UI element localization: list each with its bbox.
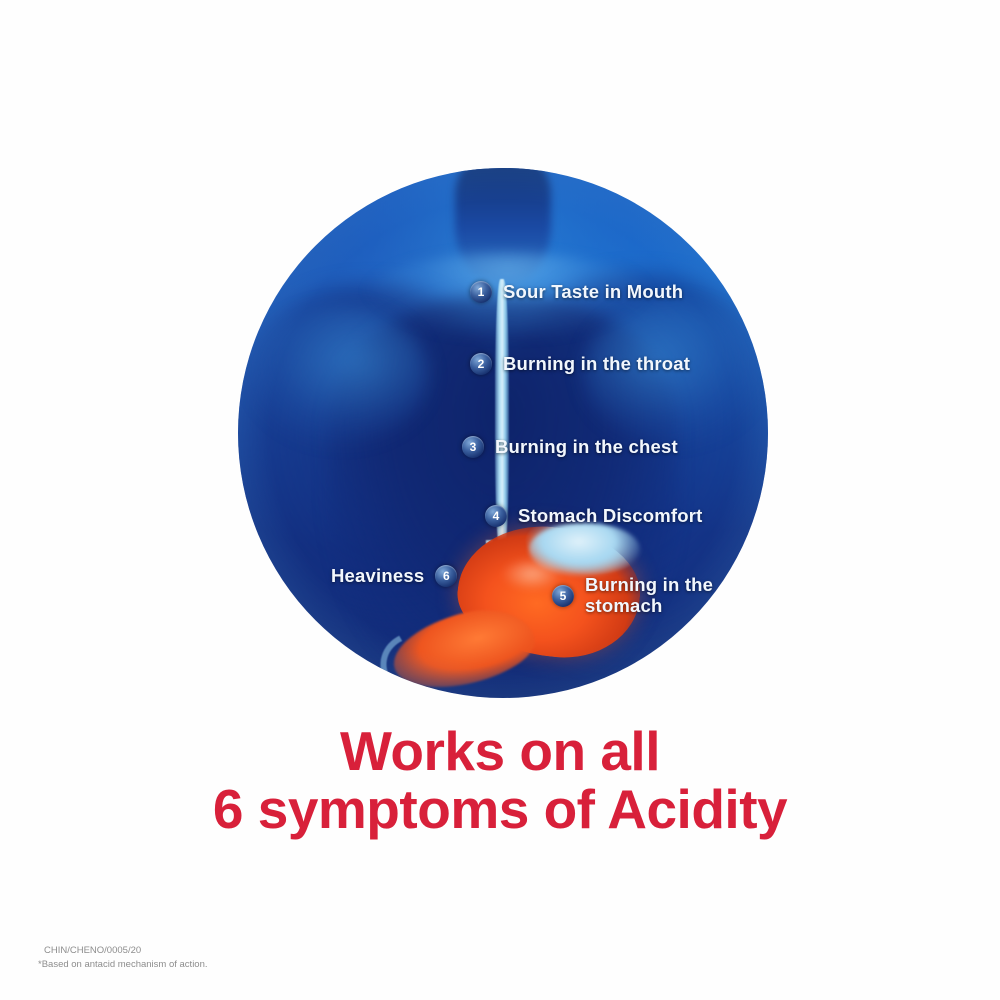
symptom-callout-4: 4 Stomach Discomfort xyxy=(485,505,703,527)
footer: CHIN/CHENO/0005/20 *Based on antacid mec… xyxy=(38,944,208,972)
symptom-label-2: Burning in the throat xyxy=(503,354,690,375)
headline: Works on all 6 symptoms of Acidity xyxy=(0,722,1000,839)
symptom-callout-1: 1 Sour Taste in Mouth xyxy=(470,281,683,303)
footer-reference-code: CHIN/CHENO/0005/20 xyxy=(38,944,208,958)
symptom-label-3: Burning in the chest xyxy=(495,437,678,458)
headline-line-1: Works on all xyxy=(0,722,1000,780)
symptom-callout-5: 5 Burning in the stomach xyxy=(552,575,713,616)
symptom-badge-1: 1 xyxy=(470,281,492,303)
left-shoulder-highlight xyxy=(249,306,429,444)
symptom-badge-2: 2 xyxy=(470,353,492,375)
symptom-badge-3: 3 xyxy=(462,436,484,458)
symptom-label-1: Sour Taste in Mouth xyxy=(503,282,683,303)
anatomy-illustration-circle xyxy=(238,168,768,698)
symptom-badge-5: 5 xyxy=(552,585,574,607)
symptom-label-4: Stomach Discomfort xyxy=(518,506,703,527)
symptom-badge-4: 4 xyxy=(485,505,507,527)
footer-disclaimer: *Based on antacid mechanism of action. xyxy=(38,958,208,972)
symptom-callout-6: 6 Heaviness xyxy=(331,565,457,587)
symptom-label-6: Heaviness xyxy=(331,566,424,587)
ad-canvas: 1 Sour Taste in Mouth 2 Burning in the t… xyxy=(0,0,1000,1000)
symptom-callout-3: 3 Burning in the chest xyxy=(462,436,678,458)
headline-line-2: 6 symptoms of Acidity xyxy=(0,780,1000,838)
symptom-badge-6: 6 xyxy=(435,565,457,587)
symptom-callout-2: 2 Burning in the throat xyxy=(470,353,690,375)
symptom-label-5: Burning in the stomach xyxy=(585,575,713,616)
